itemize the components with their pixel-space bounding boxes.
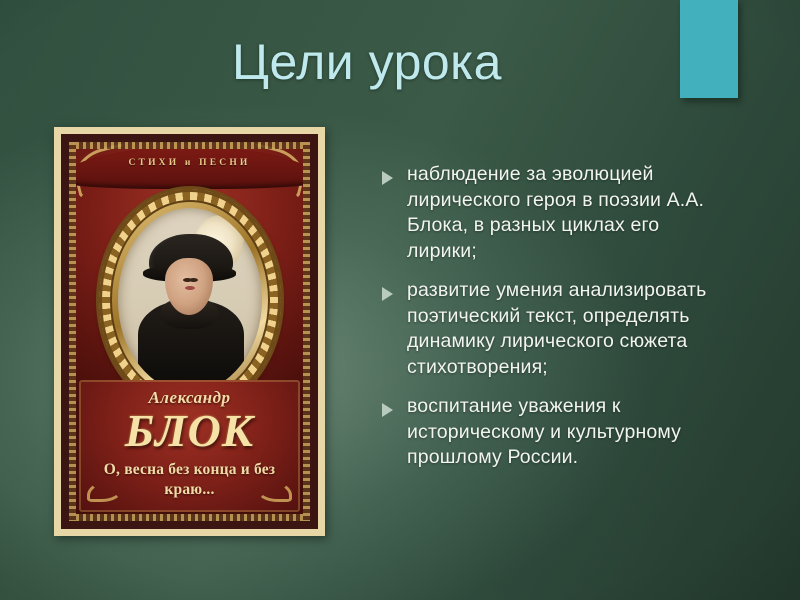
- book-author-surname: БЛОК: [79, 406, 300, 456]
- list-item: воспитание уважения к историческому и ку…: [382, 394, 734, 471]
- lips: [185, 286, 195, 290]
- objectives-list: наблюдение за эволюцией лирического геро…: [382, 162, 734, 485]
- book-cover-field: СТИХИ и ПЕСНИ: [70, 143, 309, 520]
- triangle-right-icon: [382, 287, 393, 301]
- book-banner-text: СТИХИ и ПЕСНИ: [70, 158, 309, 168]
- list-item-label: развитие умения анализировать поэтически…: [407, 278, 734, 380]
- portrait-unknown-woman: [118, 208, 262, 392]
- list-item-label: воспитание уважения к историческому и ку…: [407, 394, 734, 471]
- book-subtitle: О, весна без конца и без краю...: [87, 460, 292, 500]
- book-cover-inner-frame: СТИХИ и ПЕСНИ: [61, 134, 318, 529]
- page-title: Цели урока: [232, 26, 652, 98]
- portrait-oval-frame: [99, 189, 281, 411]
- list-item-label: наблюдение за эволюцией лирического геро…: [407, 162, 734, 264]
- triangle-right-icon: [382, 403, 393, 417]
- accent-rectangle: [680, 0, 738, 98]
- presentation-slide: Цели урока СТИХИ и ПЕСНИ: [0, 0, 800, 600]
- list-item: развитие умения анализировать поэтически…: [382, 278, 734, 380]
- eye-right: [189, 278, 198, 282]
- book-cover-image: СТИХИ и ПЕСНИ: [54, 127, 325, 536]
- list-item: наблюдение за эволюцией лирического геро…: [382, 162, 734, 264]
- book-title-panel: Александр БЛОК О, весна без конца и без …: [79, 380, 300, 512]
- triangle-right-icon: [382, 171, 393, 185]
